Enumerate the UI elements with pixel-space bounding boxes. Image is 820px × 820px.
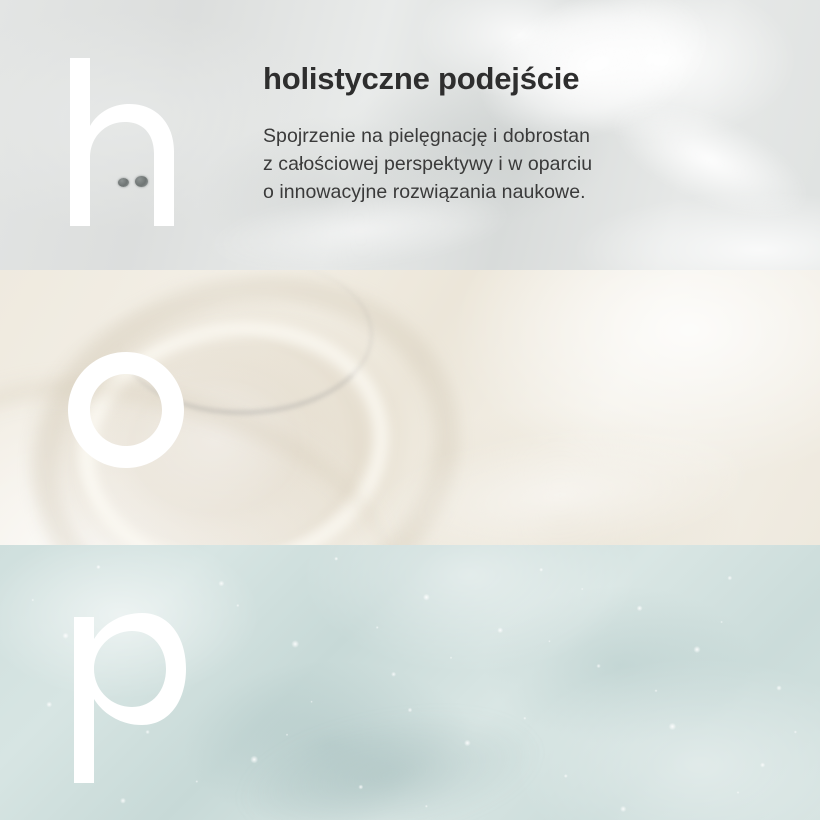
body-line: Spojrzenie na pielęgnację i dobrostan [263,122,592,150]
watermark-letter-p-icon [70,611,186,783]
brand-values-poster: holistyczne podejście Spojrzenie na piel… [0,0,820,820]
panel-produkty: produkty Stworzone z poszanowaniem środo… [0,545,820,820]
body-line: o innowacyjne rozwiązania naukowe. [263,178,592,206]
watermark-letter-o-icon [68,352,184,468]
panel-1-body: Spojrzenie na pielęgnację i dobrostan z … [263,122,592,206]
panel-1-heading: holistyczne podejście [263,62,592,95]
watermark-letter-h-icon [66,52,186,232]
panel-1-text-block: holistyczne podejście Spojrzenie na piel… [263,62,592,206]
body-line: z całościowej perspektywy i w oparciu [263,150,592,178]
panel-holistyczne-podejscie: holistyczne podejście Spojrzenie na piel… [0,0,820,270]
panel-optymalizacja: optymalizacja Skuteczne formuły zoptymal… [0,270,820,545]
